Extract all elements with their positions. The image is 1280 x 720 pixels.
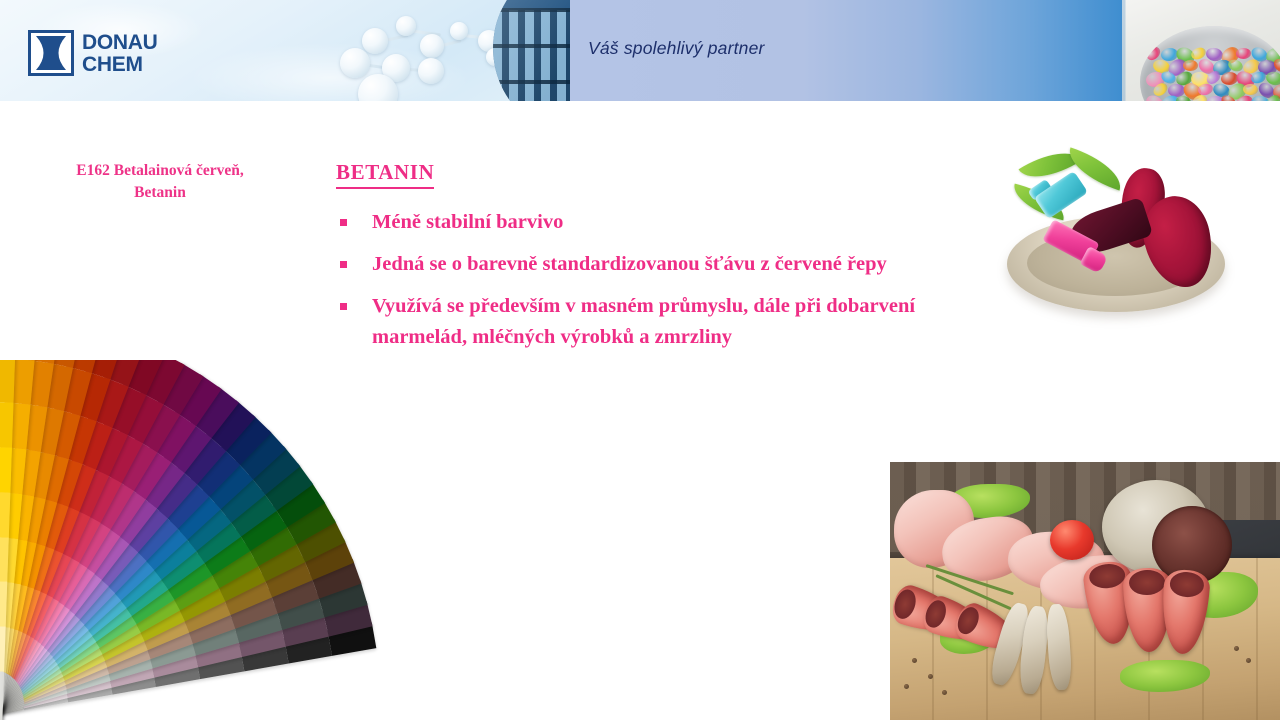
candy-piece	[1218, 44, 1242, 68]
charcuterie-board-photo	[890, 462, 1280, 720]
molecule-atom	[340, 48, 370, 78]
candy-piece	[1205, 46, 1224, 62]
candy-piece	[1219, 93, 1238, 101]
candy-piece	[1242, 83, 1258, 96]
candy-piece	[1257, 59, 1278, 76]
main-content: BETANIN Méně stabilní barvivoJedná se o …	[336, 160, 976, 365]
bullet-item: Využívá se především v masném průmyslu, …	[336, 291, 976, 353]
donau-chem-logo-mark	[28, 30, 74, 76]
candy-bowl-photo	[1122, 0, 1280, 101]
bullet-square-icon	[340, 261, 347, 268]
candy-piece	[1211, 81, 1232, 99]
candy-piece	[1190, 70, 1212, 89]
candy-piece	[1159, 93, 1183, 101]
bullet-square-icon	[340, 219, 347, 226]
candy-piece	[1205, 95, 1225, 101]
molecule-atom	[362, 28, 388, 54]
peppercorn	[928, 674, 933, 679]
pantone-colour-fan-deck-photo	[0, 360, 500, 720]
fan-colour-chip	[0, 492, 10, 538]
logo-text-line1: DONAU	[82, 32, 158, 53]
candy-piece	[1145, 71, 1166, 89]
candy-piece	[1174, 44, 1198, 66]
molecule-atom	[418, 58, 444, 84]
bullet-list: Méně stabilní barvivoJedná se o barevně …	[336, 207, 976, 354]
additive-title: E162 Betalainová červeň, Betanin	[10, 160, 310, 205]
bullet-square-icon	[340, 303, 347, 310]
candy-piece	[1165, 56, 1189, 79]
candy-piece	[1183, 60, 1198, 72]
candy-piece	[1264, 93, 1280, 101]
bullet-item: Jedná se o barevně standardizovanou šťáv…	[336, 249, 976, 280]
candy-piece	[1180, 80, 1204, 101]
molecule-atom	[420, 34, 444, 58]
candy-piece	[1225, 80, 1249, 101]
candy-piece	[1272, 82, 1280, 100]
logo-text-line2: CHEM	[82, 54, 158, 75]
candy-piece	[1236, 48, 1252, 60]
peppercorn	[904, 684, 909, 689]
candy-piece	[1256, 80, 1277, 101]
candy-piece	[1159, 69, 1177, 86]
candy-piece	[1250, 70, 1268, 85]
fan-colour-chip	[0, 360, 15, 403]
page-header: DONAU CHEM Váš spolehlivý partner	[0, 0, 1280, 101]
candy-piece	[1175, 95, 1192, 101]
fan-colour-chip	[0, 447, 12, 493]
candy-piece	[1144, 44, 1162, 62]
additive-title-line1: E162 Betalainová červeň,	[10, 160, 310, 182]
bullet-text: Využívá se především v masném průmyslu, …	[372, 295, 915, 348]
candy-piece	[1151, 58, 1171, 76]
content-heading: BETANIN	[336, 160, 434, 189]
candy-piece	[1249, 44, 1270, 64]
candy-piece	[1221, 71, 1239, 85]
candy-piece	[1174, 69, 1195, 88]
bullet-text: Méně stabilní barvivo	[372, 211, 563, 233]
fan-colour-chip	[0, 536, 9, 582]
candy-piece	[1234, 93, 1255, 101]
candy-piece	[1189, 92, 1210, 101]
candy-piece	[1233, 68, 1257, 91]
candy-piece	[1211, 58, 1233, 77]
candy-piece	[1144, 93, 1165, 101]
candy-piece	[1226, 58, 1244, 74]
candy-piece	[1196, 56, 1217, 77]
header-banner: Váš spolehlivý partner	[570, 0, 1122, 101]
candy-piece	[1241, 57, 1262, 77]
candy-piece	[1264, 45, 1280, 65]
candy-bowl	[1140, 26, 1280, 101]
candy-piece	[1197, 82, 1214, 97]
candy-piece	[1204, 68, 1223, 86]
candy-piece	[1264, 70, 1280, 87]
molecule-atom	[450, 22, 468, 40]
peppercorn	[1246, 658, 1251, 663]
peppercorn	[1234, 646, 1239, 651]
additive-title-line2: Betanin	[10, 182, 310, 204]
cherry-tomato	[1050, 520, 1094, 560]
candy-piece	[1189, 45, 1207, 61]
donau-chem-logo[interactable]: DONAU CHEM	[28, 30, 158, 76]
company-slogan: Váš spolehlivý partner	[588, 38, 765, 59]
candy-piece	[1249, 94, 1271, 101]
bullet-item: Méně stabilní barvivo	[336, 207, 976, 238]
peppercorn	[942, 690, 947, 695]
peppercorn	[912, 658, 917, 663]
candy-piece	[1160, 47, 1179, 62]
candy-piece	[1271, 56, 1280, 74]
molecule-atom	[396, 16, 416, 36]
candy-piece	[1168, 84, 1185, 97]
fan-colour-chip	[0, 402, 13, 448]
beetroot-cosmetics-plate-photo	[985, 138, 1240, 338]
candy-piece	[1151, 81, 1170, 99]
bullet-text: Jedná se o barevně standardizovanou šťáv…	[372, 253, 887, 275]
